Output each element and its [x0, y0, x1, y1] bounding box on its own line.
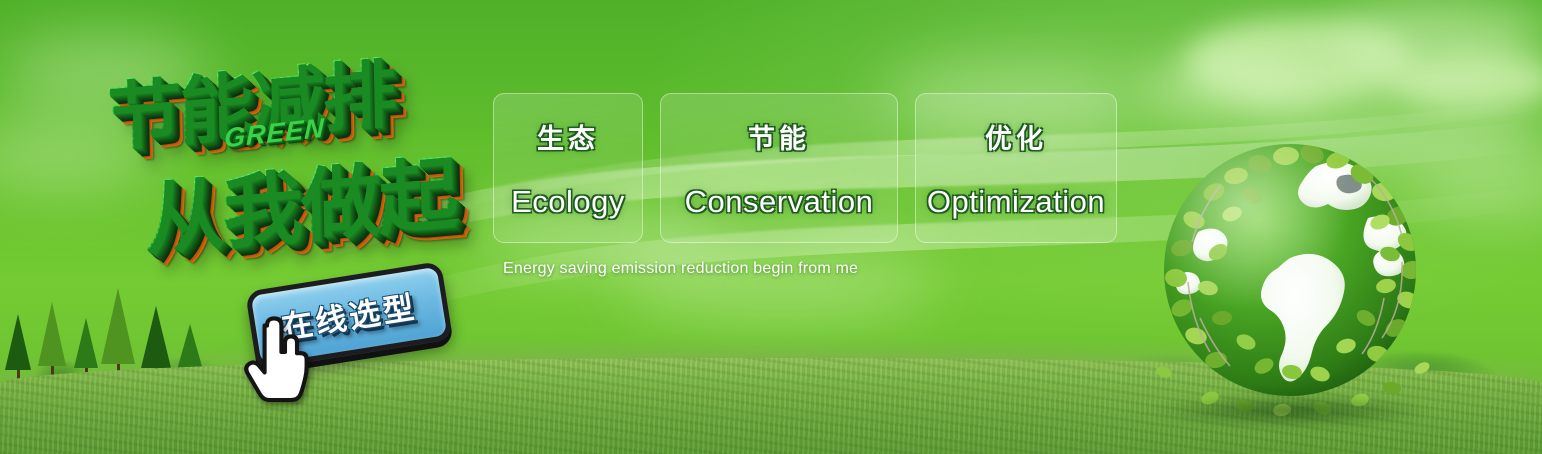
feature-panels: 生态 Ecology 节能 Conservation 优化 Optimizati…: [493, 93, 1117, 243]
leafy-earth-globe-icon: [1140, 122, 1440, 422]
clouds-icon: [1185, 18, 1415, 104]
tagline: Energy saving emission reduction begin f…: [503, 260, 858, 278]
hand-pointer-icon: [240, 316, 318, 412]
clouds-icon: [1390, 52, 1542, 110]
globe-shadow: [1150, 394, 1432, 428]
panel-conservation-en: Conservation: [685, 184, 874, 220]
panel-ecology[interactable]: 生态 Ecology: [493, 93, 643, 243]
panel-ecology-cn: 生态: [537, 117, 599, 156]
panel-optimization-cn: 优化: [985, 117, 1047, 156]
clouds-icon: [1330, 4, 1542, 74]
panel-optimization-en: Optimization: [927, 184, 1105, 220]
green-energy-banner: 节能减排 GREEN 从我做起 在线选型 生态 Ecology 节能 Conse…: [0, 0, 1542, 454]
panel-ecology-en: Ecology: [511, 184, 625, 220]
panel-optimization[interactable]: 优化 Optimization: [915, 93, 1117, 243]
title-artwork: 节能减排 GREEN 从我做起: [88, 34, 488, 274]
globe-svg: [1140, 122, 1440, 422]
panel-conservation-cn: 节能: [748, 117, 810, 156]
panel-conservation[interactable]: 节能 Conservation: [660, 93, 898, 243]
clouds-icon: [1140, 58, 1320, 120]
